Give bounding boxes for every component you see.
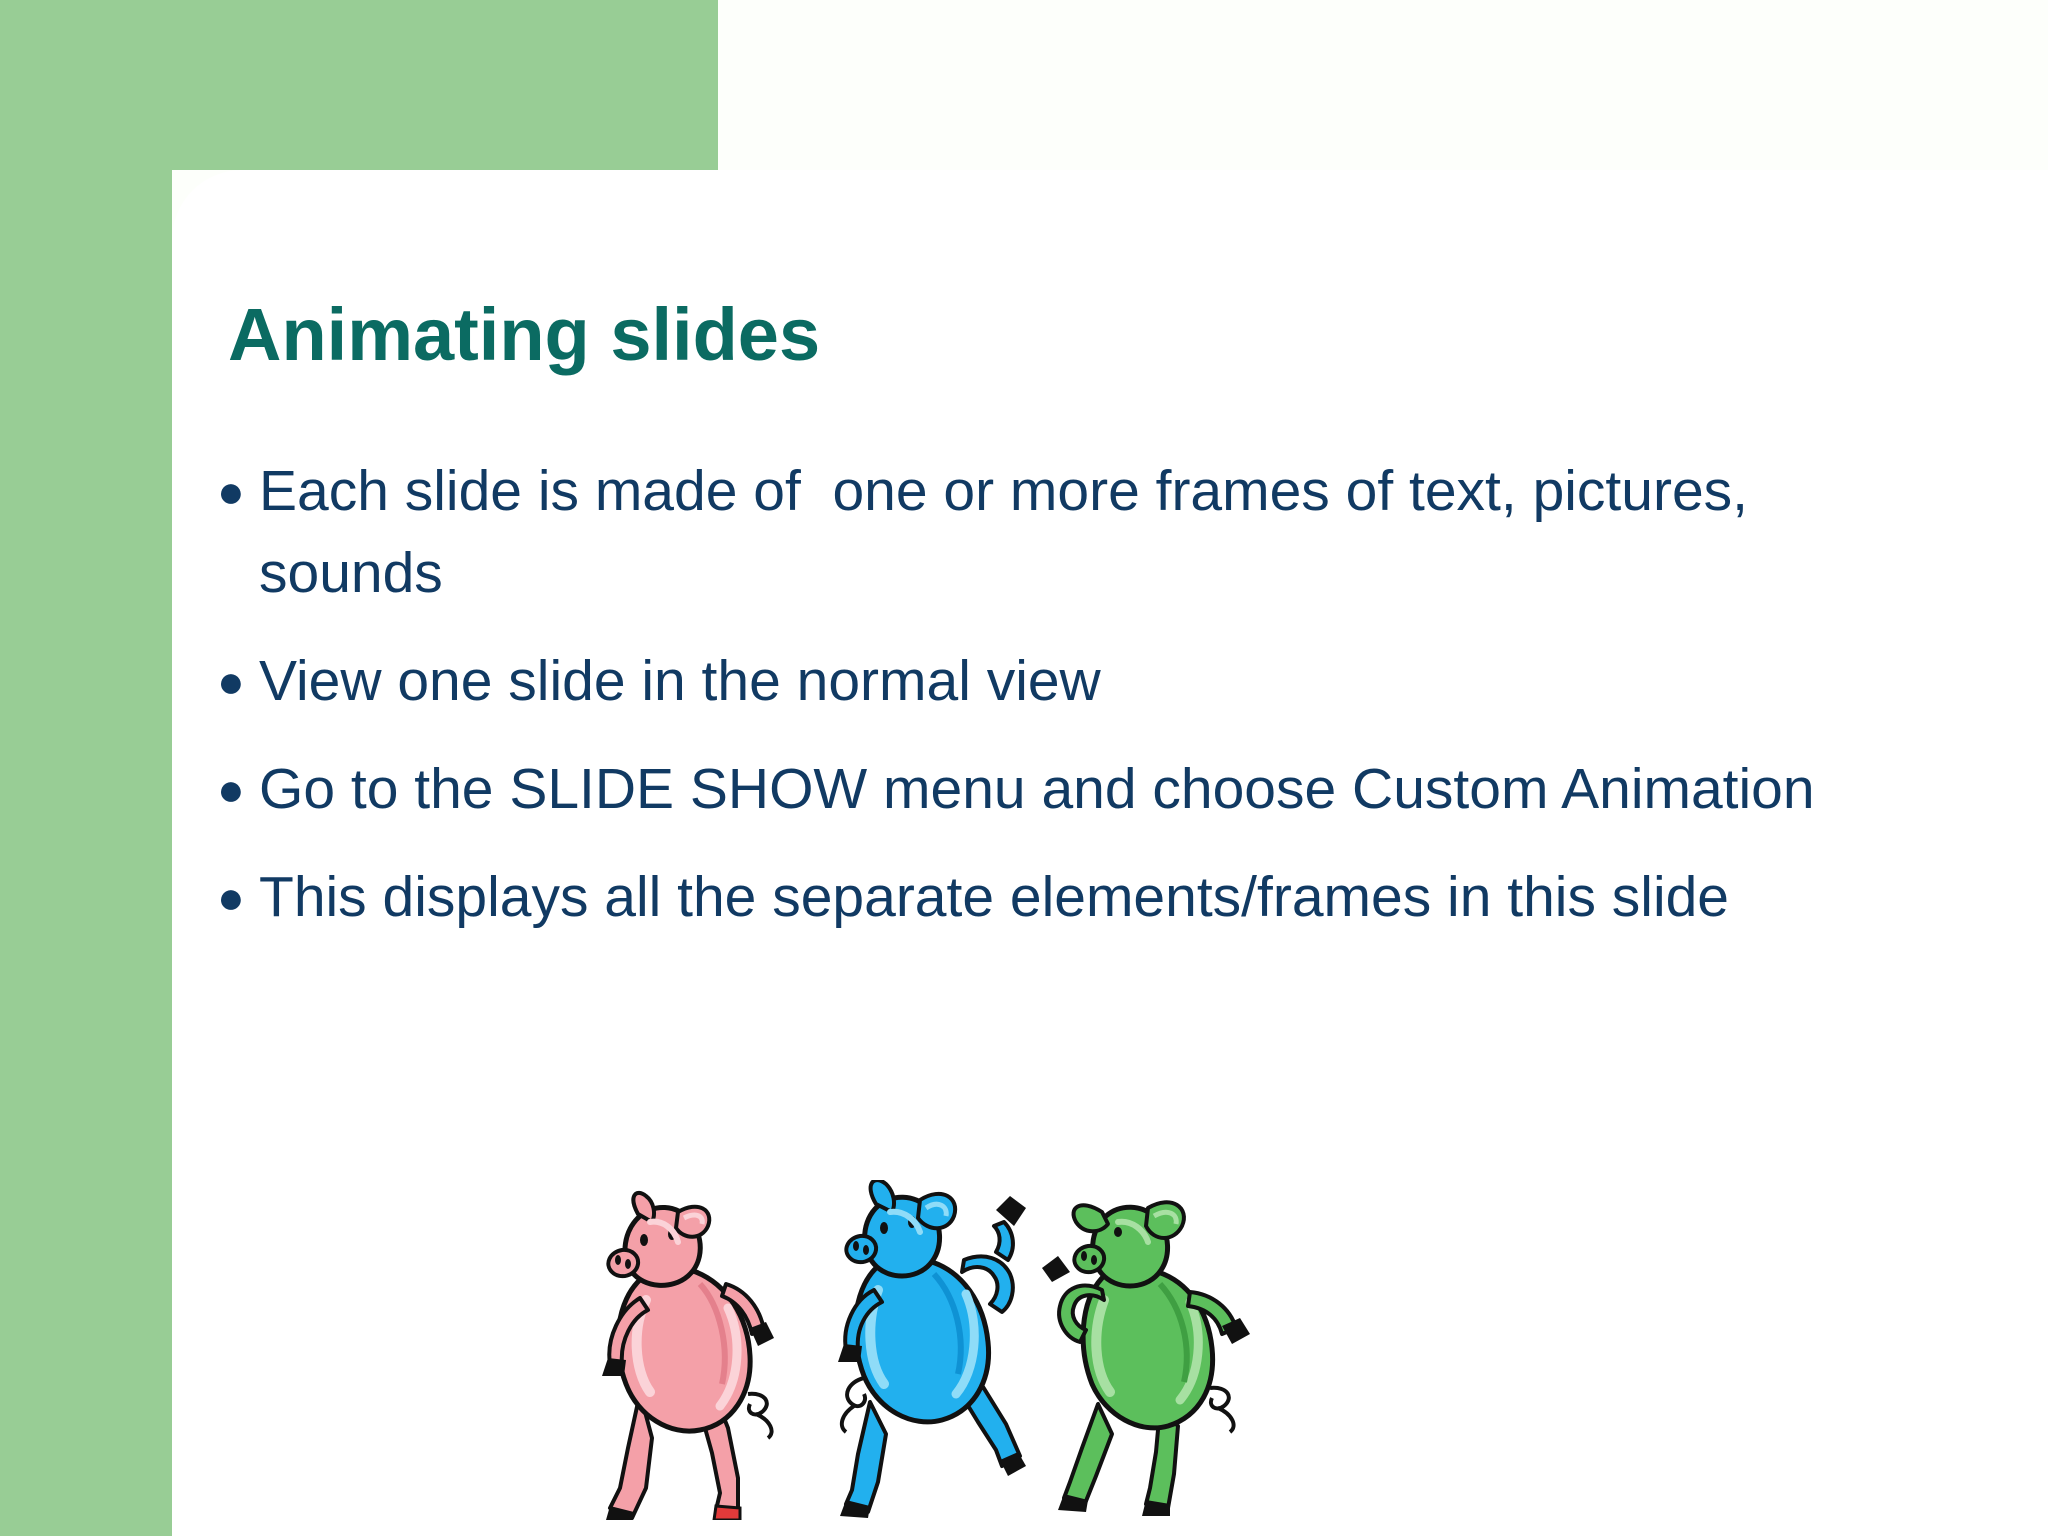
list-item-label: Go to the SLIDE SHOW menu and choose Cus… (259, 748, 1925, 830)
dancing-pigs-clipart (570, 1180, 1290, 1520)
page-title: Animating slides (228, 298, 820, 372)
bullet-point-icon: ● (205, 856, 259, 938)
bullet-point-icon: ● (205, 640, 259, 722)
list-item-label: View one slide in the normal view (259, 640, 1925, 722)
bullet-list: ● Each slide is made of one or more fram… (205, 450, 1925, 964)
list-item: ● View one slide in the normal view (205, 640, 1925, 722)
presentation-slide: Animating slides ● Each slide is made of… (0, 0, 2048, 1536)
bullet-point-icon: ● (205, 748, 259, 830)
list-item: ● Each slide is made of one or more fram… (205, 450, 1925, 614)
slide-content: Animating slides ● Each slide is made of… (0, 0, 2048, 1536)
list-item-label: This displays all the separate elements/… (259, 856, 1925, 938)
list-item: ● Go to the SLIDE SHOW menu and choose C… (205, 748, 1925, 830)
bullet-point-icon: ● (205, 450, 259, 532)
green-pig-icon (1042, 1202, 1250, 1516)
list-item-label: Each slide is made of one or more frames… (259, 450, 1925, 614)
blue-pig-icon (838, 1180, 1026, 1518)
pink-pig-icon (602, 1193, 774, 1520)
list-item: ● This displays all the separate element… (205, 856, 1925, 938)
